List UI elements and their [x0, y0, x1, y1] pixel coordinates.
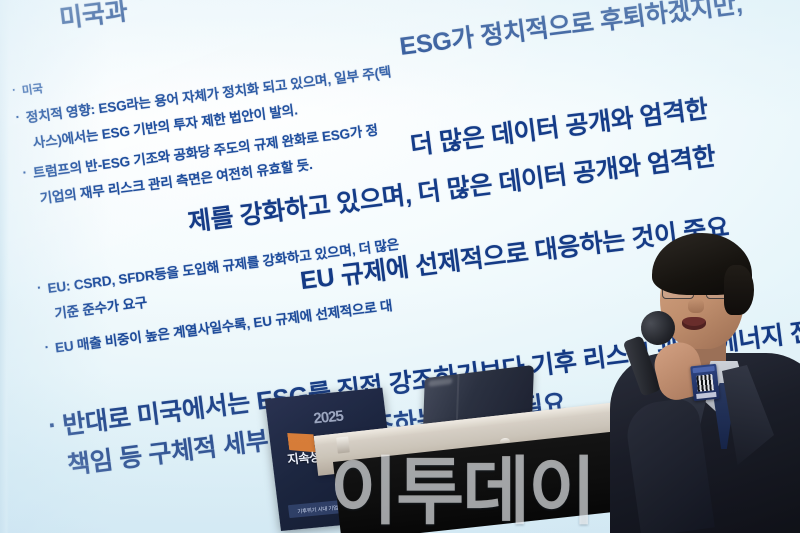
lectern-clip	[336, 436, 350, 453]
speaker	[626, 225, 800, 533]
speaker-nose	[688, 299, 704, 313]
speaker-mouth	[682, 317, 706, 330]
slide-bullet-us: 미국	[11, 80, 43, 100]
slide-title: 미국과	[57, 0, 129, 35]
slide-line-esg-politics: ESG가 정치적으로 후퇴하겠지만,	[397, 0, 744, 63]
badge-header	[692, 366, 714, 373]
speaker-badge	[690, 364, 720, 402]
badge-name-strip	[696, 392, 716, 399]
sign-year: 2025	[313, 408, 344, 428]
slide-line-standards: 기준 준수가 요구	[53, 291, 148, 323]
monitor-glare	[428, 378, 452, 387]
qr-code-icon	[696, 374, 714, 392]
slide-line-1: 가 정치화 되고 있으며, 일부 주(텍	[120, 0, 466, 7]
conference-photo: 미국과 가 정치화 되고 있으며, 일부 주(텍 정치적으로 후퇴하겠지만, 미…	[0, 0, 800, 533]
speaker-hair-side	[724, 265, 754, 315]
